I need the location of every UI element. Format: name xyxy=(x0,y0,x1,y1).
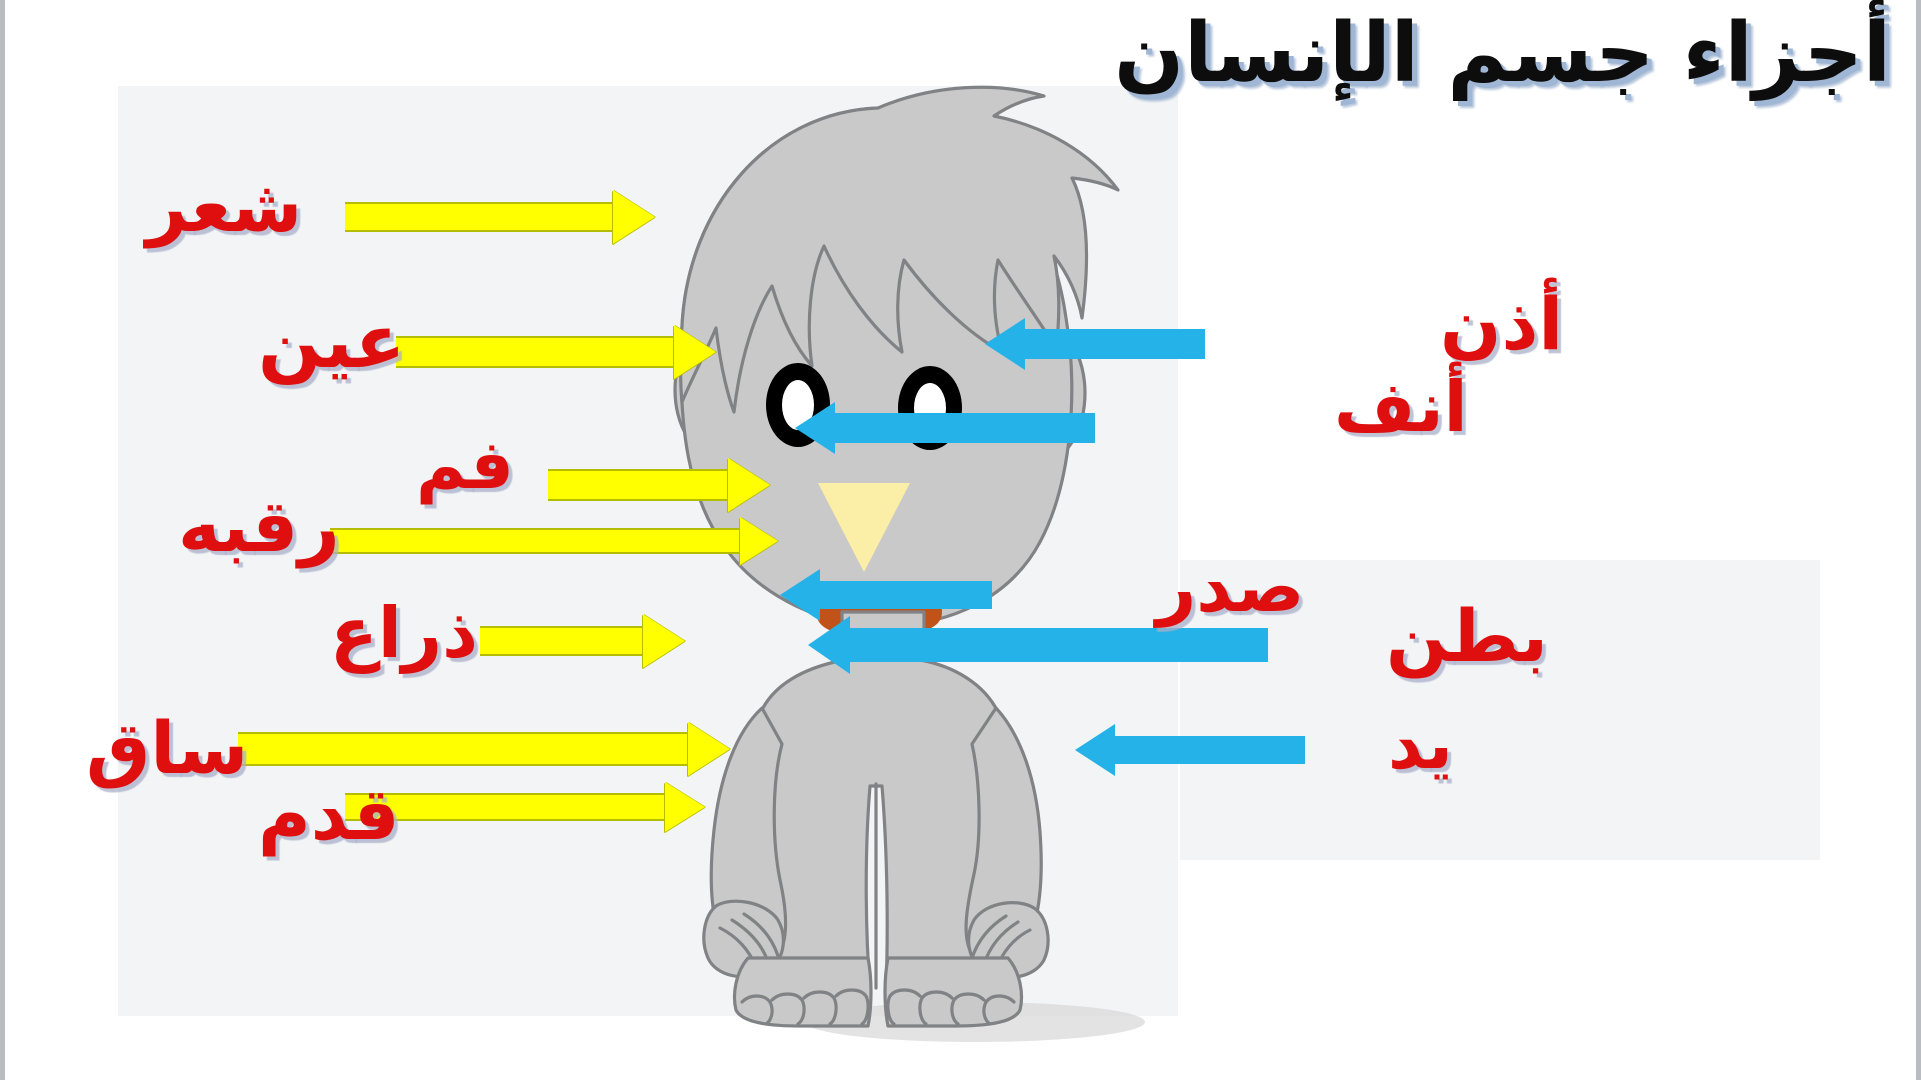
label-leg: ساق xyxy=(86,712,248,784)
label-neck: رقبه xyxy=(178,490,340,562)
arrow-belly-head xyxy=(808,616,850,674)
arrow-neck-head xyxy=(740,517,778,565)
arrow-eye-shaft xyxy=(396,336,674,368)
label-belly: بطن xyxy=(1386,600,1548,672)
arrow-neck-shaft xyxy=(330,528,740,554)
human-body-parts-poster: أجزاء جسم الإنسان .sk { fill:#c9c9c9; st… xyxy=(0,0,1921,1080)
label-chest: صدر xyxy=(1156,552,1304,622)
arrow-nose xyxy=(795,402,1095,454)
arrow-mouth-head xyxy=(728,458,770,512)
arrow-hair-head xyxy=(613,190,655,244)
arrow-chest-head xyxy=(780,569,820,621)
arrow-eye-head xyxy=(674,325,716,379)
arrow-foot-head xyxy=(665,782,705,832)
label-hand: يد xyxy=(1388,712,1453,780)
arrow-eye xyxy=(396,325,716,379)
arrow-leg-shaft xyxy=(238,732,688,766)
arrow-neck xyxy=(330,517,778,565)
arrow-arm-shaft xyxy=(480,626,643,656)
arrow-ear-shaft xyxy=(1025,329,1205,359)
arrow-ear xyxy=(985,318,1205,370)
arrow-chest-shaft xyxy=(820,581,992,609)
right-border-edge xyxy=(1916,0,1921,1080)
label-ear: أذن xyxy=(1440,288,1563,360)
arrow-nose-head xyxy=(795,402,835,454)
label-arm: ذراع xyxy=(330,598,478,668)
arrow-chest xyxy=(780,570,992,620)
label-mouth: فم xyxy=(416,432,514,500)
label-foot: قدم xyxy=(258,778,400,850)
arrow-leg xyxy=(238,722,730,776)
arrow-leg-head xyxy=(688,722,730,776)
arrow-hand xyxy=(1075,725,1305,775)
arrow-belly-shaft xyxy=(850,628,1268,662)
label-hair: شعر xyxy=(146,170,302,242)
arrow-arm-head xyxy=(643,614,685,668)
left-border-edge xyxy=(0,0,5,1080)
arrow-nose-shaft xyxy=(835,413,1095,443)
arrow-mouth xyxy=(548,458,770,512)
label-eye: عين xyxy=(258,305,405,379)
label-nose: أنف xyxy=(1334,372,1468,442)
arrow-ear-head xyxy=(985,318,1025,370)
arrow-hair-shaft xyxy=(345,202,613,232)
arrow-hair xyxy=(345,190,655,244)
arrow-hand-head xyxy=(1075,724,1115,776)
arrow-arm xyxy=(480,615,685,667)
arrow-mouth-shaft xyxy=(548,469,728,501)
arrow-hand-shaft xyxy=(1115,736,1305,764)
